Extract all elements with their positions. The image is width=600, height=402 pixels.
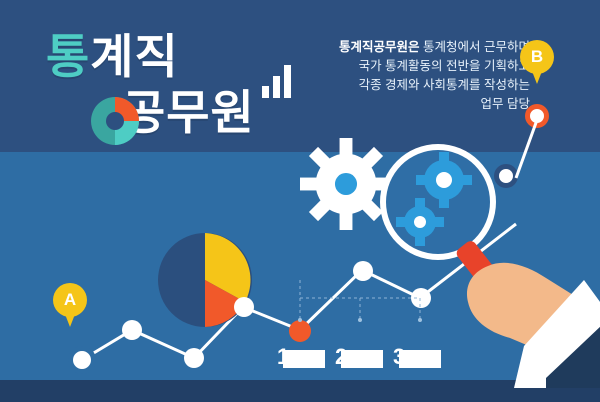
infographic-canvas: 통계직 공무원 통계직공무원은 통계청에서 근무하며 국가 통계활동의 전반을 …: [0, 0, 600, 402]
donut-chart-icon: [90, 96, 140, 146]
description-text: 통계직공무원은 통계청에서 근무하며 국가 통계활동의 전반을 기획하고 각종 …: [300, 38, 530, 114]
marker-a[interactable]: A: [53, 283, 87, 329]
step-dot-1: [298, 318, 302, 322]
step-number-2: 2: [335, 344, 347, 370]
chart-node-6: [353, 261, 373, 281]
description-highlight-1: 통계직공무원은: [339, 40, 420, 54]
marker-b-label: B: [520, 40, 554, 74]
step-dot-3: [418, 318, 422, 322]
step-box-3: [399, 350, 441, 368]
hand-icon: [428, 228, 600, 388]
step-dot-2: [358, 318, 362, 322]
description-line-2: 국가 통계활동의 전반을 기획하고: [300, 57, 530, 76]
chart-node-3: [184, 348, 204, 368]
chart-node-2: [122, 320, 142, 340]
title-block: 통계직 공무원: [30, 18, 300, 138]
chart-node-1: [68, 346, 96, 374]
step-box-2: [341, 350, 383, 368]
marker-a-label: A: [53, 283, 87, 317]
step-box-1: [283, 350, 325, 368]
description-line-4: 업무 담당: [300, 95, 530, 114]
page-title-line1: 통계직: [46, 32, 179, 82]
step-number-3: 3: [393, 344, 405, 370]
description-line-3: 각종 경제와 사회통계를 작성하는: [300, 76, 530, 95]
description-line-1-tail: 통계청에서 근무하며: [423, 40, 530, 54]
step-connector-lines: [280, 280, 440, 340]
step-number-1: 1: [277, 344, 289, 370]
chart-node-4: [234, 297, 254, 317]
bar-chart-icon: [262, 64, 302, 98]
page-title-line2: 공무원: [122, 88, 255, 138]
